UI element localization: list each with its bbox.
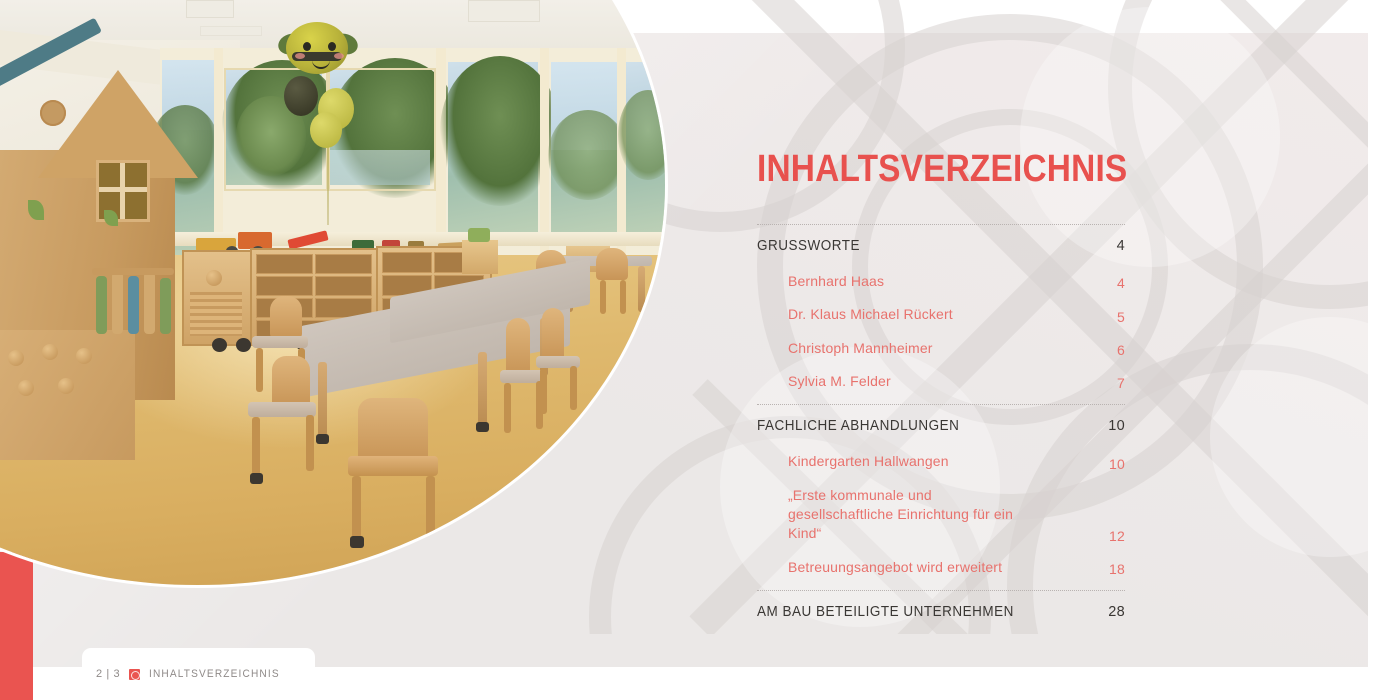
fence-post <box>160 278 171 334</box>
toc-section-label: AM BAU BETEILIGTE UNTERNEHMEN <box>757 604 1014 620</box>
balloon-yellow <box>310 112 342 148</box>
classroom-scene <box>0 0 665 585</box>
chair-leg <box>252 417 260 475</box>
toc-section-header[interactable]: FACHLICHE ABHANDLUNGEN 10 <box>757 406 1125 445</box>
chair-leg <box>256 348 263 392</box>
ceiling-vent-icon <box>468 0 540 22</box>
toc-section-header[interactable]: GRUSSWORTE 4 <box>757 226 1125 265</box>
toc-section-page: 4 <box>1117 238 1125 254</box>
chair <box>272 356 310 406</box>
chair <box>270 296 302 338</box>
deck-knob <box>42 344 58 360</box>
toc-entry-page: 10 <box>1109 456 1125 472</box>
toc-entry-label: „Erste kommunale und gesellschaftliche E… <box>757 486 1028 544</box>
toc-entry[interactable]: Dr. Klaus Michael Rückert 5 <box>757 298 1125 331</box>
toc-entry-label: Sylvia M. Felder <box>757 372 891 391</box>
cabinet-knob <box>206 270 222 286</box>
window-frame <box>328 68 436 191</box>
chair-leg <box>540 368 547 414</box>
fence-rail <box>92 268 174 275</box>
toc-entry[interactable]: Betreuungsangebot wird erweitert 18 <box>757 551 1125 584</box>
balloon-dark <box>284 76 318 116</box>
page-footer: 2 | 3 INHALTSVERZEICHNIS <box>82 648 315 700</box>
fence-post <box>128 276 139 334</box>
window-tree <box>548 110 628 200</box>
shelf-compartment <box>256 276 313 296</box>
playhouse-deck <box>0 330 135 460</box>
chair <box>596 248 628 280</box>
toc-entry-label: Bernhard Haas <box>757 272 884 291</box>
table-leg <box>638 266 645 312</box>
toc-entry[interactable]: Bernhard Haas 4 <box>757 265 1125 298</box>
bee-eye <box>303 42 311 51</box>
chair-foot <box>250 473 263 484</box>
chair-leg <box>504 383 511 433</box>
bee-eye <box>328 42 336 51</box>
storage-box <box>462 240 498 274</box>
deck-knob <box>76 348 92 364</box>
chair-leg <box>620 280 626 314</box>
chair-leg <box>426 476 435 538</box>
table-foot <box>316 434 329 444</box>
toc-entry[interactable]: Sylvia M. Felder 7 <box>757 365 1125 398</box>
toc-entry[interactable]: „Erste kommunale und gesellschaftliche E… <box>757 479 1125 551</box>
toc-entry-label: Betreuungsangebot wird erweitert <box>757 558 1002 577</box>
toc-entry-label: Kindergarten Hallwangen <box>757 452 949 471</box>
table-foot <box>476 422 489 432</box>
shelf-compartment <box>382 252 432 273</box>
plant <box>468 228 490 242</box>
fence-post <box>112 272 123 334</box>
toc-entry-page: 6 <box>1117 342 1125 358</box>
page-title: INHALTSVERZEICHNIS <box>757 150 1081 188</box>
chair <box>506 318 530 374</box>
toc-section-header[interactable]: AM BAU BETEILIGTE UNTERNEHMEN 28 <box>757 592 1125 631</box>
chair-seat <box>252 336 308 348</box>
cabinet-castor <box>212 338 227 352</box>
toc-entry-label: Christoph Mannheimer <box>757 339 933 358</box>
footer-section-title: INHALTSVERZEICHNIS <box>149 668 280 680</box>
ceiling-panel <box>186 0 234 18</box>
table-of-contents: INHALTSVERZEICHNIS GRUSSWORTE 4 Bernhard… <box>757 150 1125 631</box>
deck-knob <box>8 350 24 366</box>
shelf-compartment <box>315 276 372 296</box>
toc-entry-page: 7 <box>1117 375 1125 391</box>
toc-entry-page: 18 <box>1109 561 1125 577</box>
toc-section-am-bau-beteiligte-unternehmen: AM BAU BETEILIGTE UNTERNEHMEN 28 <box>757 592 1125 631</box>
toc-section-grussworte: GRUSSWORTE 4 Bernhard Haas 4 Dr. Klaus M… <box>757 226 1125 404</box>
bee-cheek <box>295 53 305 59</box>
chair-seat <box>348 456 438 476</box>
shelf-compartment <box>315 254 372 274</box>
deck-knob <box>58 378 74 394</box>
deck-knob <box>18 380 34 396</box>
toc-entry-label: Dr. Klaus Michael Rückert <box>757 305 953 324</box>
cabinet-castor <box>236 338 251 352</box>
toc-section-page: 28 <box>1108 604 1125 620</box>
fence-post <box>144 272 155 334</box>
toc-section-label: FACHLICHE ABHANDLUNGEN <box>757 418 959 434</box>
bee-cheek <box>334 53 344 59</box>
cabinet-grille <box>190 292 242 336</box>
leaf-decoration <box>104 210 118 226</box>
chair <box>542 308 564 360</box>
chair <box>358 398 428 460</box>
toc-entry-page: 12 <box>1109 528 1125 544</box>
toc-entry[interactable]: Kindergarten Hallwangen 10 <box>757 445 1125 478</box>
table-leg <box>318 362 327 436</box>
table-leg <box>478 352 487 424</box>
chair-leg <box>570 366 577 410</box>
page-number-label: 2 | 3 <box>96 668 120 680</box>
chair-foot <box>424 534 438 546</box>
shelf-compartment <box>256 254 313 274</box>
company-logo-icon <box>129 669 140 680</box>
chair-leg <box>306 415 314 471</box>
fence-post <box>96 276 107 334</box>
cover-photo <box>0 0 665 585</box>
window-bar <box>99 187 147 192</box>
chair-leg <box>600 280 606 314</box>
chair-seat <box>248 402 316 417</box>
chair-leg <box>352 476 361 538</box>
toc-entry-page: 5 <box>1117 309 1125 325</box>
toc-entry-page: 4 <box>1117 275 1125 291</box>
playhouse-porthole <box>40 100 66 126</box>
toc-section-label: GRUSSWORTE <box>757 238 860 254</box>
ceiling-panel <box>200 26 262 36</box>
toc-section-fachliche-abhandlungen: FACHLICHE ABHANDLUNGEN 10 Kindergarten H… <box>757 406 1125 590</box>
chair-foot <box>350 536 364 548</box>
toc-entry[interactable]: Christoph Mannheimer 6 <box>757 332 1125 365</box>
brochure-page: INHALTSVERZEICHNIS GRUSSWORTE 4 Bernhard… <box>0 0 1400 700</box>
toc-section-page: 10 <box>1108 418 1125 434</box>
